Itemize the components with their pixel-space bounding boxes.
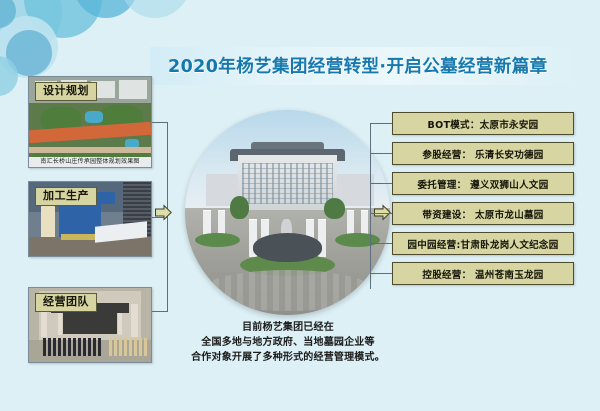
connector-branch-line [370,153,392,154]
connector-branch-line [152,122,168,123]
list-item[interactable]: 园中园经营:甘肃卧龙岗人文纪念园 [392,232,574,255]
connector-right-bracket [370,112,392,300]
summary-paragraph: 目前杨艺集团已经在 全国多地与地方政府、当地墓园企业等 合作对象开展了多种形式的… [168,320,408,365]
scene-worker-body [41,204,55,238]
connector-branch-line [370,243,392,244]
decorative-circle [0,0,62,58]
poster-canvas: 2020年杨艺集团经营转型·开启公墓经营新篇章 设计规划 南汇长桥山庄传承园整体… [0,0,600,411]
scene-entrance [63,313,117,334]
card-tag-design-planning: 设计规划 [35,82,97,101]
list-item-label: 参股经营： 乐清长安功德园 [422,147,543,161]
list-item[interactable]: BOT模式：太原市永安园 [392,112,574,135]
business-model-list: BOT模式：太原市永安园 参股经营： 乐清长安功德园 委托管理： 遵义双狮山人文… [392,112,574,292]
decorative-circle [74,0,138,18]
card-management-team[interactable]: 经营团队 [28,287,152,363]
photo-paved-plaza [201,270,373,311]
connector-branch-line [370,123,392,124]
list-item[interactable]: 控股经营： 温州苍南玉龙园 [392,262,574,285]
card-tag-processing-production: 加工生产 [35,187,97,206]
scene-team-row [43,338,105,356]
scene-water-feature [85,111,103,123]
card-processing-production[interactable]: 加工生产 [28,181,152,257]
arrow-right-icon [155,204,172,221]
card-design-planning[interactable]: 设计规划 南汇长桥山庄传承园整体规划效果图 [28,76,152,168]
photo-tree [324,198,345,219]
decorative-circle [24,0,102,38]
card-tag-management-team: 经营团队 [35,293,97,312]
decorative-circle [0,56,18,96]
connector-vertical-line [370,123,371,289]
list-item-label: 委托管理： 遵义双狮山人文园 [417,177,548,191]
photo-fountain-sculpture [253,233,323,262]
list-item-label: BOT模式：太原市永安园 [428,117,539,131]
connector-branch-line [370,213,392,214]
decorative-circle [120,0,190,18]
stone-processing-workshop-photo: 加工生产 [29,182,151,256]
photo-building-windows [242,163,332,204]
aerial-master-plan-photo: 设计规划 南汇长桥山庄传承园整体规划效果图 [29,77,151,167]
list-item-label: 控股经营： 温州苍南玉龙园 [422,267,543,281]
decorative-circle [0,16,58,78]
scene-column [118,313,122,335]
decorative-circle [0,0,16,28]
list-item[interactable]: 委托管理： 遵义双狮山人文园 [392,172,574,195]
cemetery-main-building-circular-photo[interactable] [185,110,390,315]
decorative-circle [6,30,52,76]
scene-team-row [109,338,149,356]
list-item[interactable]: 参股经营： 乐清长安功德园 [392,142,574,165]
scene-column [58,313,62,335]
scene-building [119,80,147,99]
summary-line-3: 合作对象开展了多种形式的经营管理模式。 [168,350,408,365]
photo-tree [230,196,248,219]
connector-branch-line [370,183,392,184]
summary-line-2: 全国多地与地方政府、当地墓园企业等 [168,335,408,350]
list-item-label: 园中园经营:甘肃卧龙岗人文纪念园 [407,237,558,251]
list-item[interactable]: 带资建设： 太原市龙山墓园 [392,202,574,225]
scene-column [131,304,137,337]
management-team-photo: 经营团队 [29,288,151,362]
connector-branch-line [370,273,392,274]
summary-line-1: 目前杨艺集团已经在 [168,320,408,335]
connector-branch-line [152,311,168,312]
list-item-label: 带资建设： 太原市龙山墓园 [422,207,543,221]
card-caption-design-planning: 南汇长桥山庄传承园整体规划效果图 [29,157,151,167]
page-title: 2020年杨艺集团经营转型·开启公墓经营新篇章 [168,53,578,78]
